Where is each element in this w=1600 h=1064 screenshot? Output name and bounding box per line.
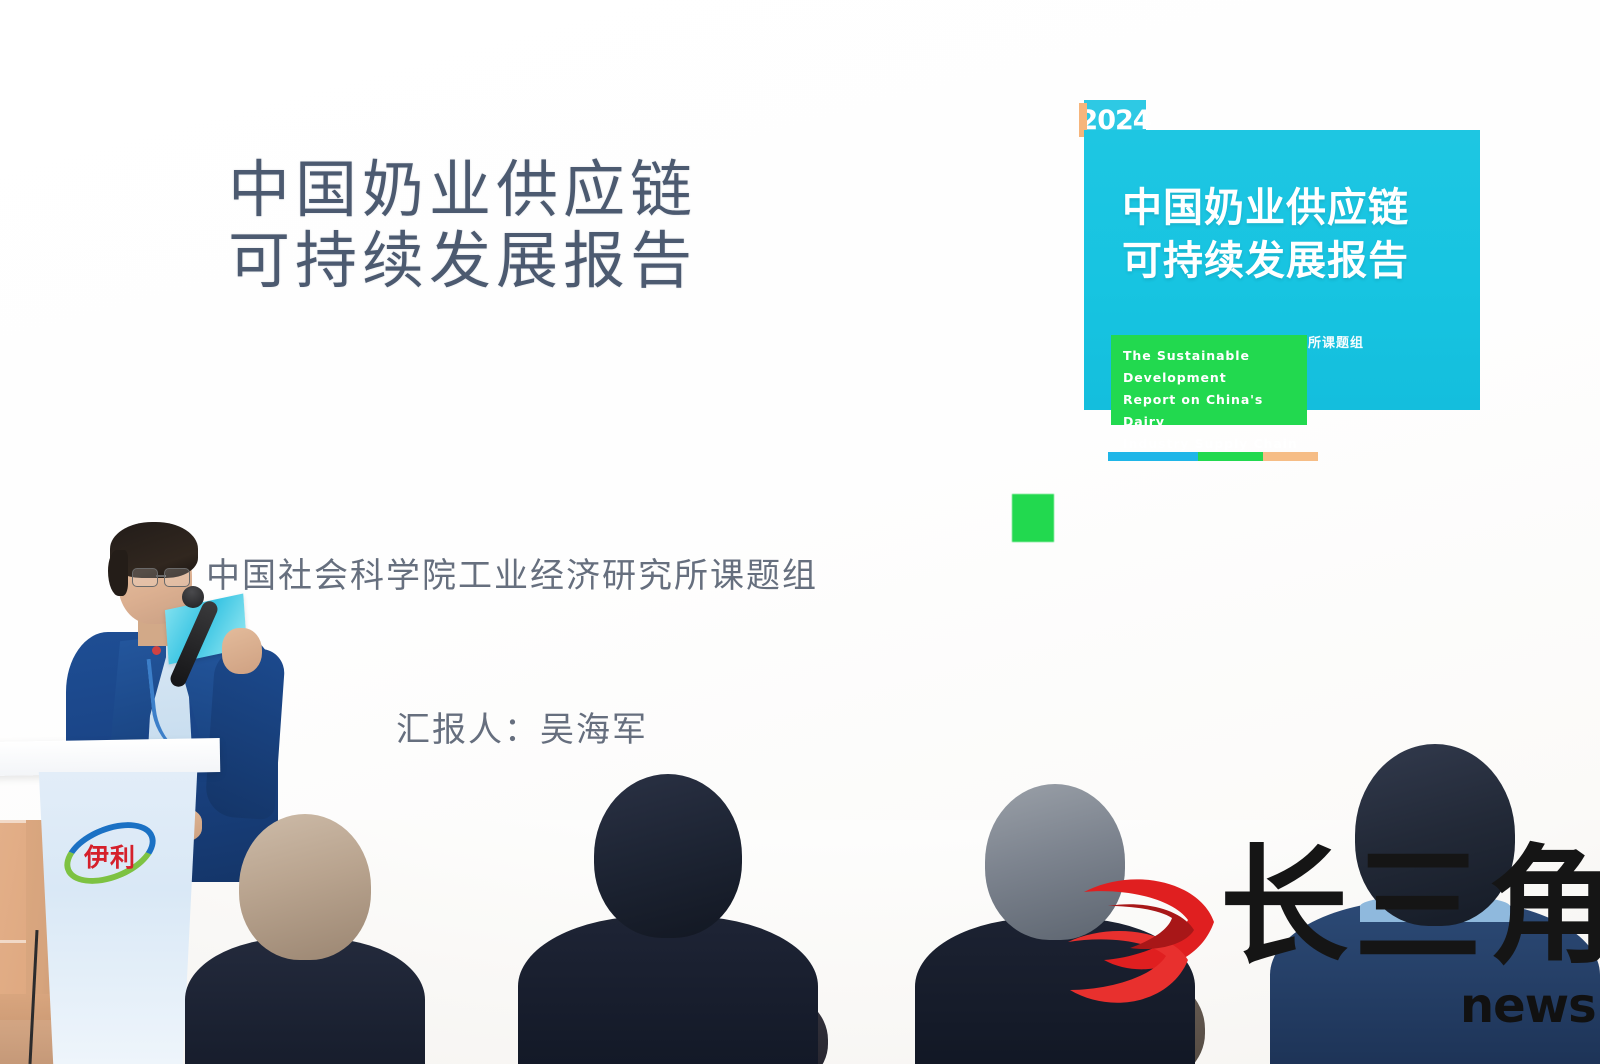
- podium-top-surface: [0, 738, 220, 776]
- speaker-hand-right: [222, 628, 262, 674]
- screenshot-stage: 中国奶业供应链 可持续发展报告 中国社会科学院工业经济研究所课题组 汇报人：吴海…: [0, 0, 1600, 1064]
- yili-brand-logo: 伊利: [62, 826, 158, 880]
- speaker-hair-side: [108, 550, 128, 596]
- glasses-icon: [132, 568, 190, 585]
- audience-member-2: [548, 774, 788, 1064]
- report-cover-chinese-title: 中国奶业供应链 可持续发展报告: [1122, 182, 1452, 288]
- slide-green-accent-square: [1012, 494, 1054, 542]
- podium-front-panel: [28, 772, 208, 1064]
- speaker-badge-pin: [152, 646, 161, 655]
- report-cover-green-panel: The Sustainable Development Report on Ch…: [1111, 335, 1307, 425]
- report-cover-english-title: The Sustainable Development Report on Ch…: [1123, 345, 1303, 454]
- slide-title: 中国奶业供应链 可持续发展报告: [228, 155, 868, 298]
- yili-logo-text: 伊利: [62, 838, 158, 874]
- report-cover-color-bar: [1108, 452, 1318, 461]
- audience-member-1: [200, 814, 410, 1064]
- slide-presenter-name: 汇报人：吴海军: [396, 702, 648, 751]
- report-cover-artwork: 2024 中国奶业供应链 可持续发展报告 中国社会科学院工业经济研究所课题组 T…: [1084, 100, 1480, 475]
- audience-member-4: [1300, 744, 1570, 1064]
- audience-member-3: [940, 784, 1170, 1064]
- slide-subtitle-organization: 中国社会科学院工业经济研究所课题组: [206, 548, 818, 597]
